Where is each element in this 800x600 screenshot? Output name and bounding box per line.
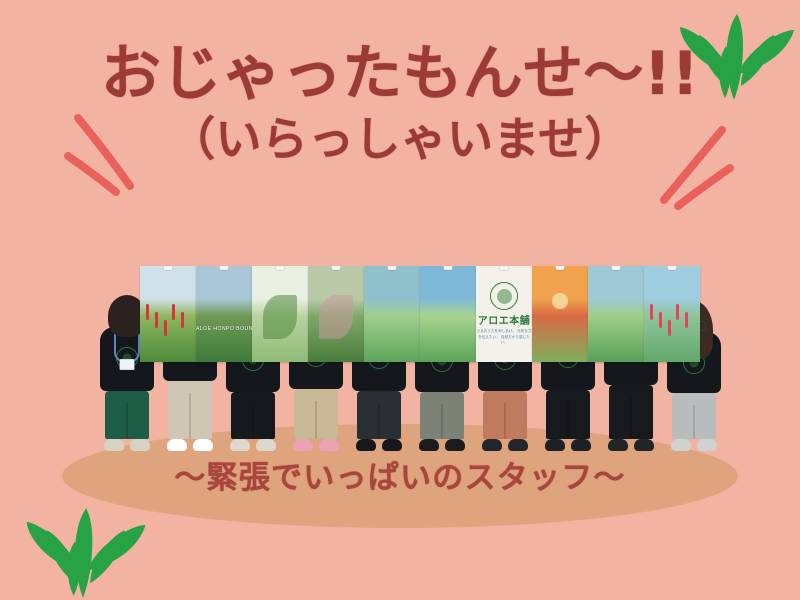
aloe-honpo-seal-icon <box>490 282 518 310</box>
banner-clip <box>332 266 341 270</box>
banner-logo-text: アロエ本舗 <box>478 312 531 327</box>
banner-panel <box>308 266 364 362</box>
banner-panel <box>140 266 196 362</box>
banner-panel <box>532 266 588 362</box>
shoe <box>697 439 717 451</box>
banner-panel <box>252 266 308 362</box>
shoe <box>445 439 465 451</box>
aloe-bloom <box>668 320 671 336</box>
staff-trousers <box>672 393 716 439</box>
shoe <box>193 439 213 451</box>
shoe <box>419 439 439 451</box>
sun-icon <box>552 293 568 309</box>
staff-shoes <box>545 439 591 451</box>
aloe-bloom <box>685 312 688 328</box>
staff-shoes <box>482 439 528 451</box>
aloe-bloom <box>659 312 662 328</box>
shoe <box>130 439 150 451</box>
staff-shoes <box>356 439 402 451</box>
staff-shoes <box>608 439 654 451</box>
shoe <box>482 439 502 451</box>
banner-clip <box>276 266 285 270</box>
shoe <box>571 439 591 451</box>
shoe <box>356 439 376 451</box>
banner-strip: ALOE HONPO BOUNOTSU FARMアロエ本舗うるおう力を申しあげ。… <box>140 266 700 362</box>
banner-logo-subtext: うるおう力を申しあげ。 元気な力を伝えたい。 自然だから感じたい。 <box>476 329 532 345</box>
staff-trousers <box>483 391 527 439</box>
aloe-leaf-icon-bottom-left <box>18 498 148 600</box>
banner-panel <box>364 266 420 362</box>
shoe <box>319 439 339 451</box>
staff-shoes <box>419 439 465 451</box>
shoe <box>256 439 276 451</box>
staff-trousers <box>609 385 653 439</box>
aloe-bloom <box>172 304 175 320</box>
poster-canvas: おじゃったもんせ〜!! （いらっしゃいませ） ALOE HONPO BOUNOT… <box>0 0 800 600</box>
staff-head <box>112 301 142 330</box>
staff-trousers <box>105 391 149 439</box>
aloe-bloom <box>676 304 679 320</box>
staff-trousers <box>420 392 464 439</box>
staff-shoes <box>230 439 276 451</box>
aloe-bloom <box>146 304 149 320</box>
banner-panel: アロエ本舗うるおう力を申しあげ。 元気な力を伝えたい。 自然だから感じたい。 <box>476 266 532 362</box>
accent-strokes-icon-left <box>58 108 148 207</box>
aloe-leaf-icon-top-right <box>672 4 796 104</box>
aloe-bloom <box>181 312 184 328</box>
aloe-leaf-shape <box>319 295 353 339</box>
staff-caption: 〜緊張でいっぱいのスタッフ〜 <box>0 452 800 497</box>
shoe <box>545 439 565 451</box>
staff-trousers <box>168 381 212 439</box>
staff-shoes <box>104 439 150 451</box>
aloe-leaf-shape <box>263 295 297 339</box>
banner-clip <box>500 266 509 270</box>
staff-trousers <box>546 390 590 439</box>
staff-trousers <box>231 392 275 439</box>
aloe-bloom <box>164 320 167 336</box>
banner-clip <box>220 266 229 270</box>
shoe <box>382 439 402 451</box>
shoe <box>167 439 187 451</box>
banner-clip <box>388 266 397 270</box>
banner-clip <box>444 266 453 270</box>
banner-clip <box>164 266 173 270</box>
banner-caption: ALOE HONPO BOUNOTSU FARM <box>196 326 252 332</box>
shoe <box>608 439 628 451</box>
aloe-bloom <box>650 304 653 320</box>
aloe-bloom <box>155 312 158 328</box>
banner-panel: ALOE HONPO BOUNOTSU FARM <box>196 266 252 362</box>
shoe <box>230 439 250 451</box>
banner-panel <box>644 266 700 362</box>
shoe <box>634 439 654 451</box>
staff-shoes <box>671 439 717 451</box>
shoe <box>104 439 124 451</box>
staff-trousers <box>294 389 338 439</box>
banner-clip <box>612 266 621 270</box>
banner-panel <box>588 266 644 362</box>
banner-clip <box>668 266 677 270</box>
staff-shoes <box>293 439 339 451</box>
staff-shoes <box>167 439 213 451</box>
staff-trousers <box>357 391 401 439</box>
name-badge <box>119 359 134 370</box>
shoe <box>508 439 528 451</box>
shoe <box>293 439 313 451</box>
banner-panel <box>420 266 476 362</box>
banner-clip <box>556 266 565 270</box>
shoe <box>671 439 691 451</box>
